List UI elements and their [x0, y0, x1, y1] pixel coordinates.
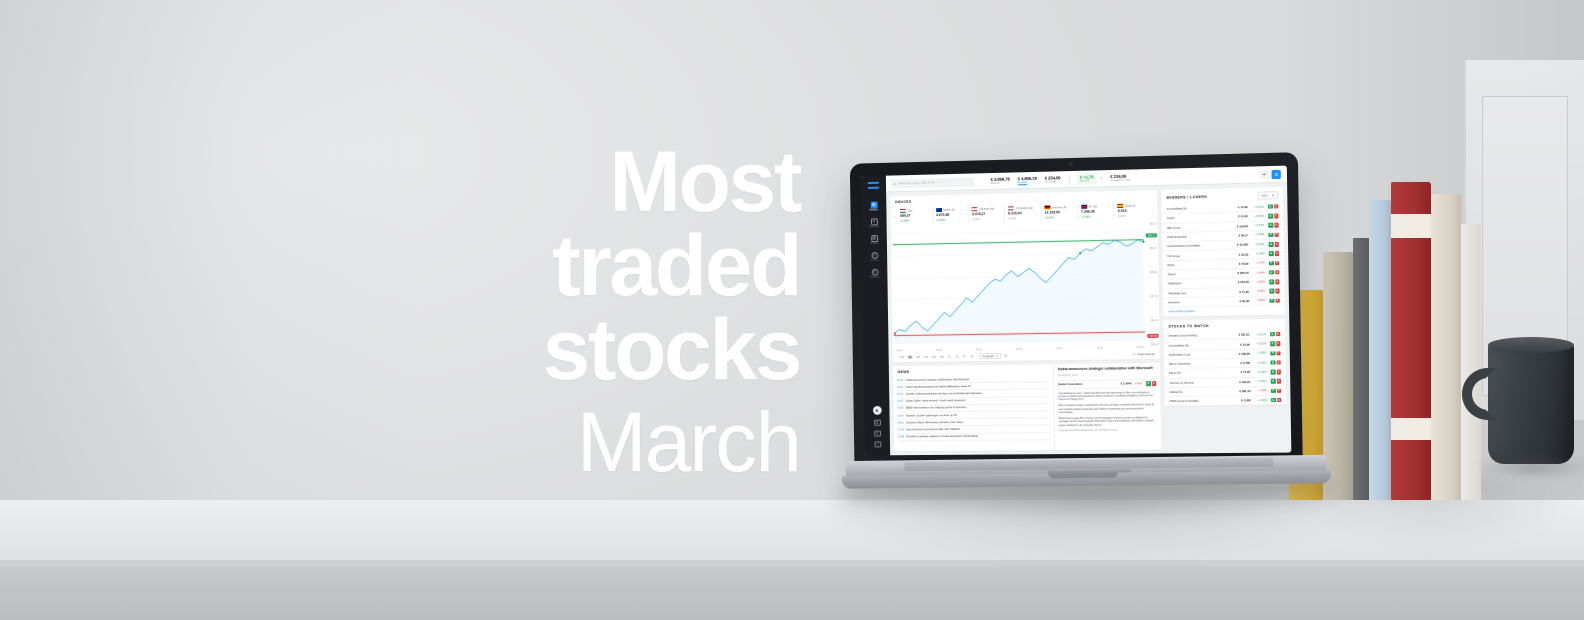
sidebar-item-portfolio[interactable]: ▦ Portfolio	[861, 231, 886, 248]
quote-change: +3,62%	[1252, 342, 1266, 345]
buy-sell-buttons: BS	[1271, 398, 1281, 403]
buy-sell-buttons: BS	[1269, 289, 1279, 294]
search-icon: ⌕	[894, 181, 896, 186]
settings-gear-icon[interactable]: ⚙	[874, 431, 881, 437]
index-card[interactable]: UK 100 7.396,28 +0,36%	[1077, 202, 1114, 221]
news-item-time: 14:24	[897, 407, 903, 410]
quote-price: € 32,26	[1239, 252, 1249, 256]
quote-name: Adidas AG	[1169, 389, 1237, 394]
quote-name: DSM Group Koninklijke	[1170, 399, 1240, 404]
news-item-time: 12:58	[898, 435, 904, 438]
quote-price: € 71,25	[1239, 290, 1249, 294]
quote-change: -0,50%	[1251, 280, 1265, 283]
quote-name: ASR Nederland	[1167, 234, 1237, 239]
index-change: 0,00%	[1008, 216, 1037, 221]
coffee-mug	[1488, 342, 1574, 464]
sell-button[interactable]: S	[1276, 370, 1281, 375]
markets-icon: ▤	[870, 201, 877, 208]
news-paragraph: (CandaFinance.com) - Nokia and Microsoft…	[1058, 391, 1156, 402]
buy-sell-buttons: BS	[1268, 214, 1278, 219]
news-item-time: 13:04	[898, 428, 904, 431]
news-item-time: 14:01	[897, 421, 903, 424]
buy-button[interactable]: B	[1268, 214, 1273, 219]
quote-name: Alibaba Group Holding	[1169, 333, 1237, 338]
sell-button[interactable]: S	[1277, 398, 1282, 403]
kpi-available-label: Available to trade	[1110, 179, 1130, 182]
news-item-time: 14:14	[897, 414, 903, 417]
index-change: +0,62%	[1044, 215, 1074, 220]
desk-front-panel	[0, 566, 1584, 620]
index-change: +0,48%	[900, 218, 929, 223]
hamburger-icon[interactable]	[868, 182, 880, 189]
news-item-title: Sultan Sibbe, white-neutral, it fuels ra…	[906, 399, 966, 403]
search-input[interactable]: ⌕ Search by name, ISIN, SYM	[891, 177, 975, 188]
graph-type-select[interactable]: Linegraph ▾	[979, 353, 1001, 359]
index-card[interactable]: AEX 589,37 +0,48%	[897, 206, 932, 225]
quote-price: € 3,799	[1241, 361, 1251, 365]
news-quote-name: Nokia Corporation	[1058, 382, 1082, 386]
index-change: +0,36%	[1081, 214, 1111, 219]
timeframe-1w[interactable]: 1W	[914, 355, 921, 359]
app-main: ⌕ Search by name, ISIN, SYM € 4.999,78 B…	[886, 166, 1291, 456]
sidebar-label-activity: Activity	[871, 259, 879, 261]
news-quote-change: -1,41%	[1134, 382, 1143, 385]
buy-button[interactable]: B	[1268, 233, 1273, 238]
buy-sell-buttons: BS	[1271, 370, 1281, 375]
graph-analysis-button[interactable]: 📈 Graph analysis	[1133, 352, 1155, 355]
products-icon: ◎	[871, 268, 878, 275]
chart-y-tick: 589,20	[1149, 247, 1157, 250]
quote-price: € 181,61	[1239, 333, 1250, 337]
quote-change: +1,99%	[1252, 361, 1266, 364]
timeframe-all[interactable]: All	[969, 354, 975, 358]
chart-y-tick: 588,20	[1150, 271, 1158, 274]
star-icon: ★	[870, 218, 877, 225]
buy-button[interactable]: B	[1270, 351, 1275, 356]
flag-us-icon	[1008, 206, 1014, 210]
kpi-portfolio-label[interactable]: Portfolio	[1018, 181, 1037, 184]
quote-name: ArcelorMittal SA	[1167, 205, 1237, 211]
quote-change: +0,34%	[1252, 380, 1266, 383]
cards-icon[interactable]: ▤	[874, 420, 881, 426]
flag-de-icon	[1044, 206, 1050, 210]
buy-button[interactable]: B	[1270, 341, 1275, 346]
sidebar-item-markets[interactable]: ▤ Markets	[861, 197, 886, 214]
index-card[interactable]: Germany 30 13.139,90 +0,62%	[1040, 203, 1077, 222]
sell-button[interactable]: S	[1275, 289, 1280, 294]
graph-analysis-icon: 📈	[1133, 353, 1136, 356]
buy-button[interactable]: B	[1270, 360, 1275, 365]
sidebar-label-portfolio: Portfolio	[870, 243, 879, 245]
buy-button[interactable]: B	[1269, 261, 1274, 266]
indices-chart-card: INDICES ‹ AEX	[890, 190, 1160, 362]
news-detail-date: 05/11/2019 | 14:40	[1058, 373, 1156, 377]
quote-name: Heineken	[1168, 299, 1238, 304]
chart-price-badge: 589,37	[1146, 233, 1157, 237]
buy-sell-buttons: BS	[1270, 351, 1280, 356]
buy-sell-buttons: BS	[1268, 223, 1278, 228]
winners-losers-filter-value: AEX	[1261, 193, 1268, 197]
book-red-band-top	[1391, 214, 1431, 238]
news-body: NEWS 14:40Nokia announces strategic coll…	[893, 363, 1162, 451]
quote-change: +1,21%	[1252, 333, 1266, 336]
flag-uk-icon	[1081, 205, 1087, 209]
quote-price: € 36,17	[1239, 233, 1249, 237]
buy-sell-buttons: B S	[1146, 381, 1156, 386]
kpi-day-pl-pill: € +1,70 Day P/L	[1077, 173, 1097, 185]
timeframe-6m[interactable]: 6M	[939, 355, 946, 359]
sidebar-item-favourites[interactable]: ★ Favourites	[861, 214, 886, 231]
content-right-column: WINNERS / LOSERS AEX ▾ ArcelorMittal SA€…	[1161, 187, 1287, 449]
timeframe-3m[interactable]: 3M	[931, 355, 938, 359]
buy-sell-buttons: BS	[1268, 232, 1278, 237]
buy-button[interactable]: B	[1271, 370, 1276, 375]
app-content: INDICES ‹ AEX	[886, 183, 1291, 455]
buy-sell-buttons: BS	[1269, 242, 1279, 247]
book-cream	[1431, 194, 1461, 500]
search-placeholder: Search by name, ISIN, SYM	[898, 180, 935, 185]
sell-button[interactable]: S	[1274, 214, 1279, 219]
index-card[interactable]: Spain 35 9.415, 0,00%	[1114, 201, 1151, 220]
news-detail-quote: Nokia Corporation € 3,3940 -1,41% B S	[1058, 379, 1156, 390]
chart-price-badge: 585,55	[1148, 334, 1159, 338]
quote-name: IMD Group	[1167, 224, 1235, 229]
laptop-lid: ▤ Markets ★ Favourites ▦ Portfolio ◷	[850, 152, 1303, 471]
buy-button[interactable]: B	[1271, 379, 1276, 384]
index-card[interactable]: US NDAQ 100 8.216,04 0,00%	[1004, 204, 1041, 223]
flag-es-icon	[1118, 204, 1124, 208]
sidebar-label-markets: Markets	[869, 209, 878, 211]
buy-button[interactable]: B	[1269, 251, 1274, 256]
news-paragraph: Both companies today unveiled their firs…	[1058, 403, 1156, 414]
news-item-title: Ryanair October passenger numbers up 5%	[906, 414, 957, 417]
quote-name: Johnson & Johnson	[1169, 380, 1237, 385]
sell-button[interactable]: S	[1275, 279, 1280, 284]
kpi-divider	[1068, 175, 1069, 184]
laptop-open-notch	[1048, 473, 1118, 479]
quote-name: Aegon	[1167, 215, 1237, 221]
buy-button[interactable]: B	[1146, 381, 1151, 386]
kpi-pl-label: P/L today	[1045, 181, 1061, 184]
chevron-down-icon[interactable]: ▾	[1101, 176, 1103, 180]
flag-eu-icon	[936, 208, 942, 212]
buy-button[interactable]: B	[1271, 398, 1276, 403]
news-item-title: Dochter Volkerwessels aan de slag met wi…	[906, 392, 982, 396]
sell-button[interactable]: S	[1274, 261, 1279, 266]
quote-price: € 22,995	[1237, 243, 1248, 247]
index-value: 7.396,28	[1081, 209, 1111, 214]
sidebar-label-favourites: Favourites	[868, 226, 879, 228]
news-item-title: BMW new ambitions for charging points in…	[906, 406, 967, 410]
quote-row[interactable]: DSM Group Koninklijke€ 2,409+1,28%BS	[1164, 396, 1286, 407]
quote-price: € 79,90	[1239, 261, 1249, 265]
quote-price: € 14,96	[1240, 342, 1250, 346]
account-chevron-down-icon[interactable]: ▾	[1280, 172, 1282, 176]
index-name: AEX	[907, 209, 912, 212]
chart-y-tick: 587,20	[1150, 295, 1158, 298]
quote-price: € 4,140	[1238, 215, 1248, 219]
quote-name: IMCD	[1167, 262, 1237, 267]
quote-change: +0,69%	[1252, 371, 1266, 374]
buy-sell-buttons: BS	[1271, 379, 1281, 384]
chevron-right-icon[interactable]: ›	[1150, 201, 1154, 219]
graph-type-value: Linegraph	[982, 355, 993, 358]
quote-change: -1,24%	[1251, 262, 1265, 265]
buy-sell-buttons: BS	[1269, 298, 1279, 303]
buy-button[interactable]: B	[1269, 298, 1274, 303]
quote-change: +2,08%	[1250, 234, 1264, 237]
banner-scene: Most traded stocks March	[0, 0, 1584, 620]
sell-button[interactable]: S	[1274, 251, 1279, 256]
buy-sell-buttons: BS	[1269, 270, 1279, 275]
index-value: 589,37	[900, 213, 929, 218]
chart-y-tick: 585,00	[1151, 343, 1159, 346]
news-copyright: Copyright (c) 2019 CandaFinance.com. All…	[1059, 429, 1157, 432]
buy-button[interactable]: B	[1268, 223, 1273, 228]
flag-nl-icon	[900, 209, 906, 213]
index-name: Spain 35	[1125, 204, 1136, 207]
buy-sell-buttons: BS	[1268, 204, 1278, 209]
kpi-portfolio[interactable]: € 4.999,78 Portfolio	[1018, 176, 1037, 185]
sell-button[interactable]: S	[1276, 351, 1281, 356]
index-value: 9.415,	[1118, 208, 1148, 213]
timeframe-ytd[interactable]: YTD	[897, 355, 905, 359]
quote-change: +2,57%	[1250, 224, 1264, 227]
buy-button[interactable]: B	[1269, 289, 1274, 294]
index-card[interactable]: EURO 50 3.670,68 +0,25%	[932, 205, 968, 224]
headline-line-3: stocks	[300, 308, 800, 392]
index-name: US NDAQ 100	[1015, 206, 1032, 209]
kpi-day-pl-label: Day P/L	[1080, 180, 1094, 183]
buy-sell-buttons: BS	[1269, 261, 1279, 266]
buy-sell-buttons: BS	[1269, 279, 1279, 284]
stocks-to-watch-card: STOCKS TO WATCH Alibaba Group Holding€ 1…	[1163, 319, 1286, 407]
mug-rim	[1488, 337, 1574, 353]
book-red-band-bottom	[1391, 418, 1431, 440]
quote-change: -0,49%	[1251, 271, 1265, 274]
news-quote-price: € 3,3940	[1121, 382, 1132, 386]
quote-price: € 14,96	[1238, 205, 1248, 209]
topbar-kpis: € 4.999,78 Balance € 4.999,78 Portfolio …	[991, 172, 1131, 187]
sell-button[interactable]: S	[1274, 204, 1279, 209]
quote-price: € 281,40	[1239, 389, 1250, 393]
webcam-icon	[1069, 162, 1073, 166]
sell-button[interactable]: S	[1274, 223, 1279, 228]
quote-name: Takeaway.com	[1168, 290, 1238, 295]
sell-button[interactable]: S	[1276, 332, 1281, 337]
laptop: ▤ Markets ★ Favourites ▦ Portfolio ◷	[836, 158, 1336, 508]
notifications-icon[interactable]: ☂	[1260, 170, 1269, 179]
buy-sell-buttons: BS	[1270, 360, 1280, 365]
sidebar-item-products[interactable]: ◎ Products	[862, 265, 887, 282]
flag-us-icon	[972, 207, 978, 211]
index-value: 3.670,68	[936, 212, 965, 217]
stocks-to-watch-rows: Alibaba Group Holding€ 181,61+1,21%BSArc…	[1163, 330, 1286, 406]
quote-price: € 95,38	[1240, 299, 1250, 303]
trading-app: ▤ Markets ★ Favourites ▦ Portfolio ◷	[861, 166, 1292, 456]
quote-change: +0,90%	[1250, 215, 1264, 218]
quote-change: +1,28%	[1253, 399, 1267, 402]
timeframe-1d[interactable]: 1D	[907, 355, 913, 359]
quote-price: € 130,21	[1239, 380, 1250, 384]
buy-sell-buttons: BS	[1271, 388, 1281, 393]
buy-button[interactable]: B	[1271, 388, 1276, 393]
winners-losers-title: WINNERS / LOSERS	[1166, 195, 1207, 200]
book-darkgrey	[1353, 238, 1369, 500]
winners-losers-card: WINNERS / LOSERS AEX ▾ ArcelorMittal SA€…	[1161, 187, 1285, 317]
news-detail-title: Nokia announces strategic collaboration …	[1058, 366, 1156, 372]
timeframe-1m[interactable]: 1M	[923, 355, 930, 359]
price-chart[interactable]: 590,00589,20588,20587,20586,20585,00589,…	[891, 224, 1160, 348]
kpi-balance-label: Balance	[991, 182, 1010, 185]
chart-y-axis: 590,00589,20588,20587,20586,20585,00589,…	[1143, 224, 1159, 345]
quote-name: Ahold Delhaize Koninklijke	[1167, 243, 1235, 248]
quote-change: -0,53%	[1251, 299, 1265, 302]
quote-change: +1,95%	[1250, 252, 1264, 255]
quote-name: Banco Santander	[1169, 361, 1239, 366]
index-value: 3.078,27	[972, 212, 1001, 217]
quote-price: € 71,25	[1241, 370, 1251, 374]
timeframe-5y[interactable]: 5Y	[962, 354, 968, 358]
news-item-time: 14:40	[897, 386, 903, 389]
quote-price: € 164,05	[1238, 280, 1249, 284]
timeframe-1y[interactable]: 1Y	[946, 355, 952, 359]
index-name: Germany 30	[1052, 206, 1067, 209]
buy-button[interactable]: B	[1270, 332, 1275, 337]
quote-name: Bayer AG	[1169, 370, 1239, 375]
price-chart-svg	[891, 224, 1160, 348]
graph-analysis-label: Graph analysis	[1137, 352, 1154, 355]
buy-sell-buttons: BS	[1269, 251, 1279, 256]
buy-button[interactable]: B	[1269, 242, 1274, 247]
kpi-pl-today: € 234,06 P/L today	[1045, 175, 1061, 184]
portfolio-icon: ▦	[871, 235, 878, 242]
sell-button[interactable]: S	[1274, 242, 1279, 247]
quote-price: € 196,66	[1239, 351, 1250, 355]
laptop-base	[840, 455, 1333, 491]
quote-price: € 2,409	[1241, 398, 1251, 402]
quote-name: ArcelorMittal SA	[1169, 342, 1239, 347]
quote-price: € 19,604	[1237, 224, 1248, 228]
news-item-title: Inkoof aandelenprogramma NedSenkBedrijve…	[906, 385, 971, 389]
news-list: 14:40Nokia announces strategic collabora…	[893, 375, 1054, 451]
index-name: US SPX 500	[979, 207, 994, 210]
quote-name: Adyen	[1168, 271, 1236, 276]
chart-y-tick: 586,20	[1151, 319, 1159, 322]
mug-shadow	[1474, 454, 1584, 480]
chart-y-tick: 590,00	[1149, 223, 1157, 226]
timeframe-3y[interactable]: 3Y	[954, 355, 960, 359]
sidebar-item-activity[interactable]: ◷ Activity	[862, 248, 887, 265]
sell-button[interactable]: S	[1276, 341, 1281, 346]
quote-change: +2,08%	[1250, 243, 1264, 246]
news-item[interactable]: 12:58Burnaby employee salaries on Nokia …	[898, 433, 1050, 441]
news-item-title: Atos launches hybrid cloud offer with VM…	[906, 428, 960, 431]
winners-losers-rows: ArcelorMittal SA€ 14,96+3,62%BSAegon€ 4,…	[1161, 202, 1284, 307]
news-paragraph: British phone giant BT is the first comm…	[1059, 416, 1157, 427]
quote-change: +1,08%	[1252, 352, 1266, 355]
quote-name: Galapagos	[1168, 280, 1236, 285]
news-item-time: 14:27	[897, 400, 903, 403]
kpi-available: € 234,06 Available to trade	[1110, 173, 1130, 182]
buy-sell-buttons: BS	[1270, 332, 1280, 337]
index-name: EURO 50	[943, 208, 954, 211]
news-item-time: 14:27	[897, 393, 903, 396]
sell-button[interactable]: S	[1276, 360, 1281, 365]
sidebar-label-products: Products	[870, 276, 880, 278]
quote-name: NN Group	[1167, 252, 1237, 257]
news-item-title: Nokia announces strategic collaboration …	[906, 378, 969, 382]
sell-button[interactable]: S	[1276, 379, 1281, 384]
headline-line-4: March	[300, 392, 800, 492]
chevron-down-icon: ▾	[997, 354, 998, 357]
kpi-balance: € 4.999,78 Balance	[991, 176, 1010, 185]
index-value: 13.139,90	[1044, 210, 1074, 215]
view-all-link[interactable]: View all AEX products	[1163, 306, 1285, 317]
logout-icon[interactable]: ⇥	[874, 441, 881, 447]
buy-button[interactable]: B	[1268, 204, 1273, 209]
chevron-down-icon: ▾	[1272, 193, 1274, 197]
quote-change: -0,99%	[1251, 290, 1265, 293]
index-change: +0,25%	[936, 217, 965, 222]
winners-losers-filter[interactable]: AEX ▾	[1257, 191, 1278, 200]
headline-line-2: traded	[300, 224, 800, 308]
chart-settings-gear-icon[interactable]: ⚙	[1004, 354, 1007, 358]
avatar[interactable]: ☻	[872, 406, 881, 415]
sell-button[interactable]: S	[1275, 298, 1280, 303]
index-value: 8.216,04	[1008, 211, 1037, 216]
index-name: UK 100	[1088, 205, 1097, 208]
news-item-title: Burnaby employee salaries on Nokia strea…	[906, 435, 978, 439]
index-card[interactable]: US SPX 500 3.078,27 0,00%	[968, 205, 1004, 224]
quote-change: +3,62%	[1250, 205, 1264, 208]
buy-button[interactable]: B	[1269, 280, 1274, 285]
quote-name: McDonald's Corp	[1169, 352, 1237, 357]
book-lightblue	[1369, 200, 1391, 500]
quote-change: -1,34%	[1253, 389, 1267, 392]
quote-price: € 630,40	[1238, 271, 1249, 275]
sell-button[interactable]: S	[1277, 388, 1282, 393]
topbar-actions: ☂ ⚙ ▾	[1260, 169, 1282, 179]
sell-button[interactable]: S	[1274, 232, 1279, 237]
sidebar-bottom: ☻ ▤ ⚙ ⇥	[872, 406, 881, 455]
laptop-screen: ▤ Markets ★ Favourites ▦ Portfolio ◷	[861, 166, 1292, 456]
mug-body	[1488, 342, 1574, 464]
sell-button[interactable]: S	[1275, 270, 1280, 275]
news-card: NEWS 14:40Nokia announces strategic coll…	[893, 363, 1162, 451]
buy-sell-buttons: BS	[1270, 341, 1280, 346]
news-item-title: Deutsche Bank: Berenberg maintains 'sell…	[906, 421, 963, 424]
index-change: 0,00%	[1118, 213, 1148, 218]
news-item-time: 14:40	[897, 379, 903, 382]
buy-button[interactable]: B	[1269, 270, 1274, 275]
news-detail: Nokia announces strategic collaboration …	[1053, 363, 1161, 450]
headline-line-1: Most	[300, 140, 800, 224]
clock-icon: ◷	[871, 251, 878, 258]
index-change: 0,00%	[972, 217, 1001, 222]
sell-button[interactable]: S	[1152, 381, 1157, 386]
content-left-column: INDICES ‹ AEX	[890, 190, 1161, 451]
banner-headline: Most traded stocks March	[300, 140, 800, 492]
